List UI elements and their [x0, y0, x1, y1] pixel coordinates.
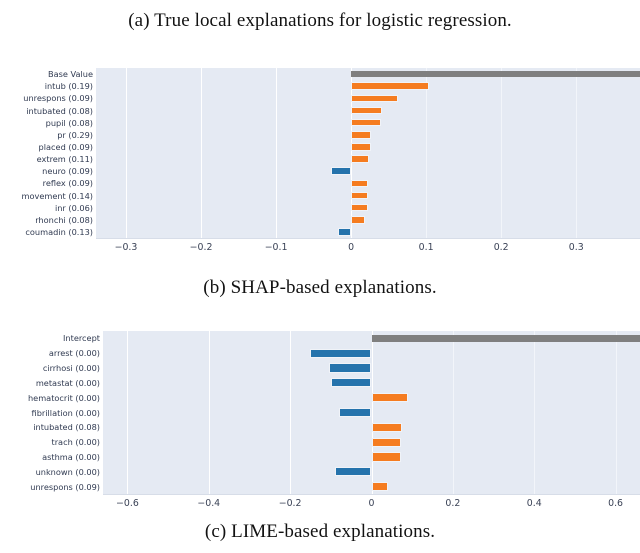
- y-axis-label: cirrhosi (0.00): [43, 364, 100, 372]
- positive-bar: [351, 204, 368, 212]
- y-axis-label: movement (0.14): [21, 191, 93, 199]
- caption-a: (a) True local explanations for logistic…: [0, 10, 640, 32]
- cutoff-axis-strip: -1-0.500.51: [0, 0, 640, 8]
- positive-bar: [351, 143, 371, 151]
- figure-page: -1-0.500.51 (a) True local explanations …: [0, 0, 640, 553]
- caption-b: (b) SHAP-based explanations.: [0, 277, 640, 299]
- y-axis-label: fibrillation (0.00): [32, 408, 100, 416]
- negative-bar: [331, 167, 351, 175]
- x-axis-tick-label: 0: [369, 498, 375, 509]
- positive-bar: [372, 482, 388, 491]
- gridline: [501, 68, 502, 238]
- cutoff-xtick: -0.5: [192, 0, 210, 3]
- gridline: [127, 331, 128, 494]
- gridline: [426, 68, 427, 238]
- gridline: [276, 68, 277, 238]
- gridline: [534, 331, 535, 494]
- x-axis-tick-label: −0.2: [279, 498, 302, 509]
- base-value-bar: [372, 335, 640, 342]
- positive-bar: [351, 155, 369, 163]
- gridline: [616, 331, 617, 494]
- cutoff-xtick: -1: [56, 0, 65, 3]
- y-axis-label: placed (0.09): [39, 143, 93, 151]
- negative-bar: [310, 349, 371, 358]
- negative-bar: [335, 467, 372, 476]
- positive-bar: [351, 192, 368, 200]
- positive-bar: [351, 216, 365, 224]
- x-axis-tick-label: −0.6: [116, 498, 139, 509]
- y-axis-label: Intercept: [63, 334, 100, 342]
- positive-bar: [351, 119, 381, 127]
- cutoff-xtick: 0: [340, 0, 346, 3]
- positive-bar: [351, 82, 429, 90]
- y-axis-label: arrest (0.00): [49, 349, 100, 357]
- gridline: [576, 68, 577, 238]
- negative-bar: [339, 408, 372, 417]
- y-axis-label: unrespons (0.09): [23, 94, 93, 102]
- positive-bar: [372, 423, 403, 432]
- y-axis-label: asthma (0.00): [42, 453, 100, 461]
- cutoff-xtick: 0.5: [477, 0, 491, 3]
- y-axis-label: reflex (0.09): [43, 179, 93, 187]
- negative-bar: [338, 228, 352, 236]
- negative-bar: [329, 363, 372, 372]
- gridline: [201, 68, 202, 238]
- x-axis-tick-label: −0.1: [265, 242, 288, 253]
- x-axis-tick-label: 0.2: [494, 242, 509, 253]
- y-axis-label: intub (0.19): [45, 82, 93, 90]
- x-axis-tick-label: 0.6: [608, 498, 623, 509]
- y-axis-label: intubated (0.08): [33, 423, 100, 431]
- lime-chart: Interceptarrest (0.00)cirrhosi (0.00)met…: [0, 326, 640, 514]
- y-axis-label: pr (0.29): [57, 131, 93, 139]
- y-axis-label: intubated (0.08): [26, 106, 93, 114]
- positive-bar: [372, 452, 401, 461]
- y-axis-label: rhonchi (0.08): [35, 216, 93, 224]
- gridline: [290, 331, 291, 494]
- x-axis-line: [96, 238, 640, 239]
- x-axis-tick-label: −0.2: [190, 242, 213, 253]
- x-axis-tick-label: 0.2: [445, 498, 460, 509]
- x-axis-line: [103, 494, 640, 495]
- y-axis-label: pupil (0.08): [46, 119, 93, 127]
- x-axis-tick-label: 0: [348, 242, 354, 253]
- plot-area: [103, 331, 640, 494]
- cutoff-xtick: 1: [622, 0, 628, 3]
- plot-area: [96, 68, 640, 238]
- positive-bar: [351, 107, 382, 115]
- base-value-bar: [351, 71, 640, 77]
- gridline: [372, 331, 373, 494]
- positive-bar: [351, 95, 398, 103]
- y-axis-label: Base Value: [48, 70, 93, 78]
- positive-bar: [351, 131, 371, 139]
- x-axis-tick-label: −0.3: [115, 242, 138, 253]
- positive-bar: [372, 438, 401, 447]
- x-axis-tick-label: 0.3: [569, 242, 584, 253]
- gridline: [351, 68, 352, 238]
- y-axis-label: extrem (0.11): [37, 155, 93, 163]
- y-axis-label: coumadin (0.13): [25, 228, 93, 236]
- negative-bar: [331, 378, 372, 387]
- y-axis-label: unrespons (0.09): [30, 482, 100, 490]
- x-axis-tick-label: 0.1: [419, 242, 434, 253]
- caption-c: (c) LIME-based explanations.: [0, 521, 640, 543]
- y-axis-label: inr (0.06): [55, 204, 93, 212]
- y-axis-label: trach (0.00): [51, 438, 100, 446]
- positive-bar: [372, 393, 409, 402]
- y-axis-label: unknown (0.00): [36, 468, 100, 476]
- x-axis-tick-label: 0.4: [527, 498, 542, 509]
- gridline: [126, 68, 127, 238]
- y-axis-label: hematocrit (0.00): [28, 394, 100, 402]
- gridline: [453, 331, 454, 494]
- shap-chart: Base Valueintub (0.19)unrespons (0.09)in…: [0, 62, 640, 257]
- x-axis-tick-label: −0.4: [197, 498, 220, 509]
- y-axis-label: metastat (0.00): [36, 379, 100, 387]
- gridline: [209, 331, 210, 494]
- y-axis-label: neuro (0.09): [42, 167, 93, 175]
- positive-bar: [351, 180, 368, 188]
